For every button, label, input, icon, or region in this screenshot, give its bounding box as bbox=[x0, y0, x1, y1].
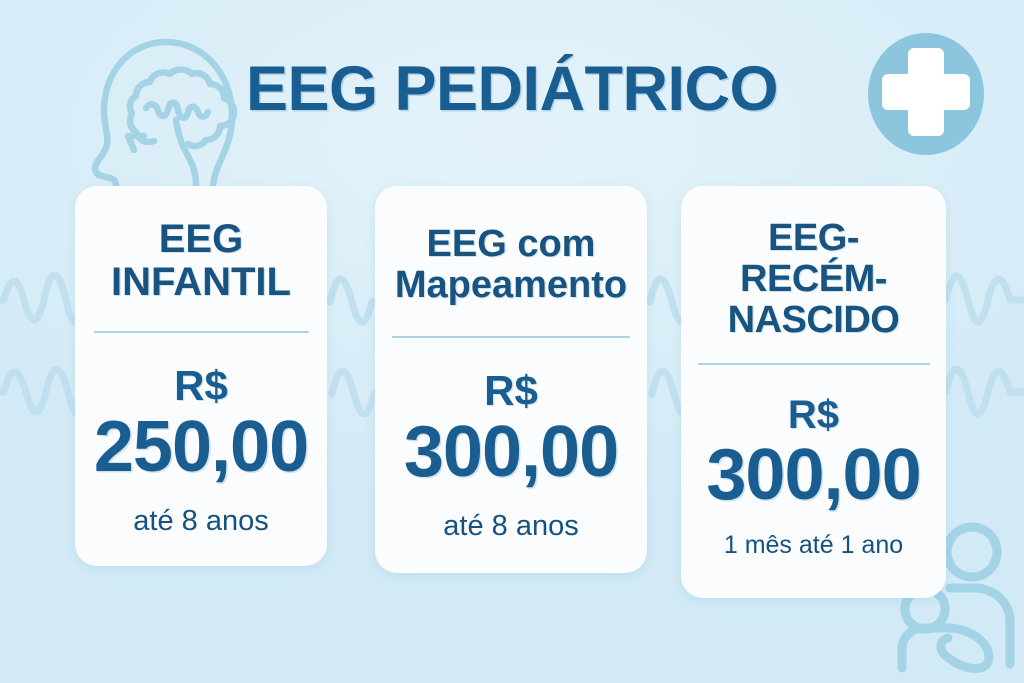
pricing-card[interactable]: EEG INFANTIL R$ 250,00 até 8 anos bbox=[75, 186, 327, 566]
price-currency: R$ bbox=[174, 365, 228, 407]
card-divider bbox=[392, 336, 630, 338]
pricing-card-title: EEG com Mapeamento bbox=[395, 224, 627, 306]
pricing-card-title: EEG INFANTIL bbox=[111, 218, 291, 304]
card-divider bbox=[698, 363, 930, 365]
pricing-card-title: EEG- RECÉM- NASCIDO bbox=[728, 218, 900, 341]
price-amount: 250,00 bbox=[94, 411, 308, 483]
page-title: EEG PEDIÁTRICO bbox=[0, 58, 1024, 121]
price-amount: 300,00 bbox=[706, 439, 920, 511]
pricing-card[interactable]: EEG- RECÉM- NASCIDO R$ 300,00 1 mês até … bbox=[681, 186, 946, 598]
price-currency: R$ bbox=[484, 370, 538, 412]
price-note: 1 mês até 1 ano bbox=[724, 533, 903, 558]
price-note: até 8 anos bbox=[133, 507, 268, 536]
pricing-card[interactable]: EEG com Mapeamento R$ 300,00 até 8 anos bbox=[375, 186, 647, 573]
price-currency: R$ bbox=[788, 395, 839, 435]
price-note: até 8 anos bbox=[443, 512, 578, 541]
card-divider bbox=[94, 331, 309, 333]
price-amount: 300,00 bbox=[404, 416, 618, 488]
eeg-pricing-poster: EEG PEDIÁTRICO EEG INFANTIL R$ 250,00 at… bbox=[0, 0, 1024, 683]
pricing-card-list: EEG INFANTIL R$ 250,00 até 8 anos EEG co… bbox=[0, 186, 1024, 606]
